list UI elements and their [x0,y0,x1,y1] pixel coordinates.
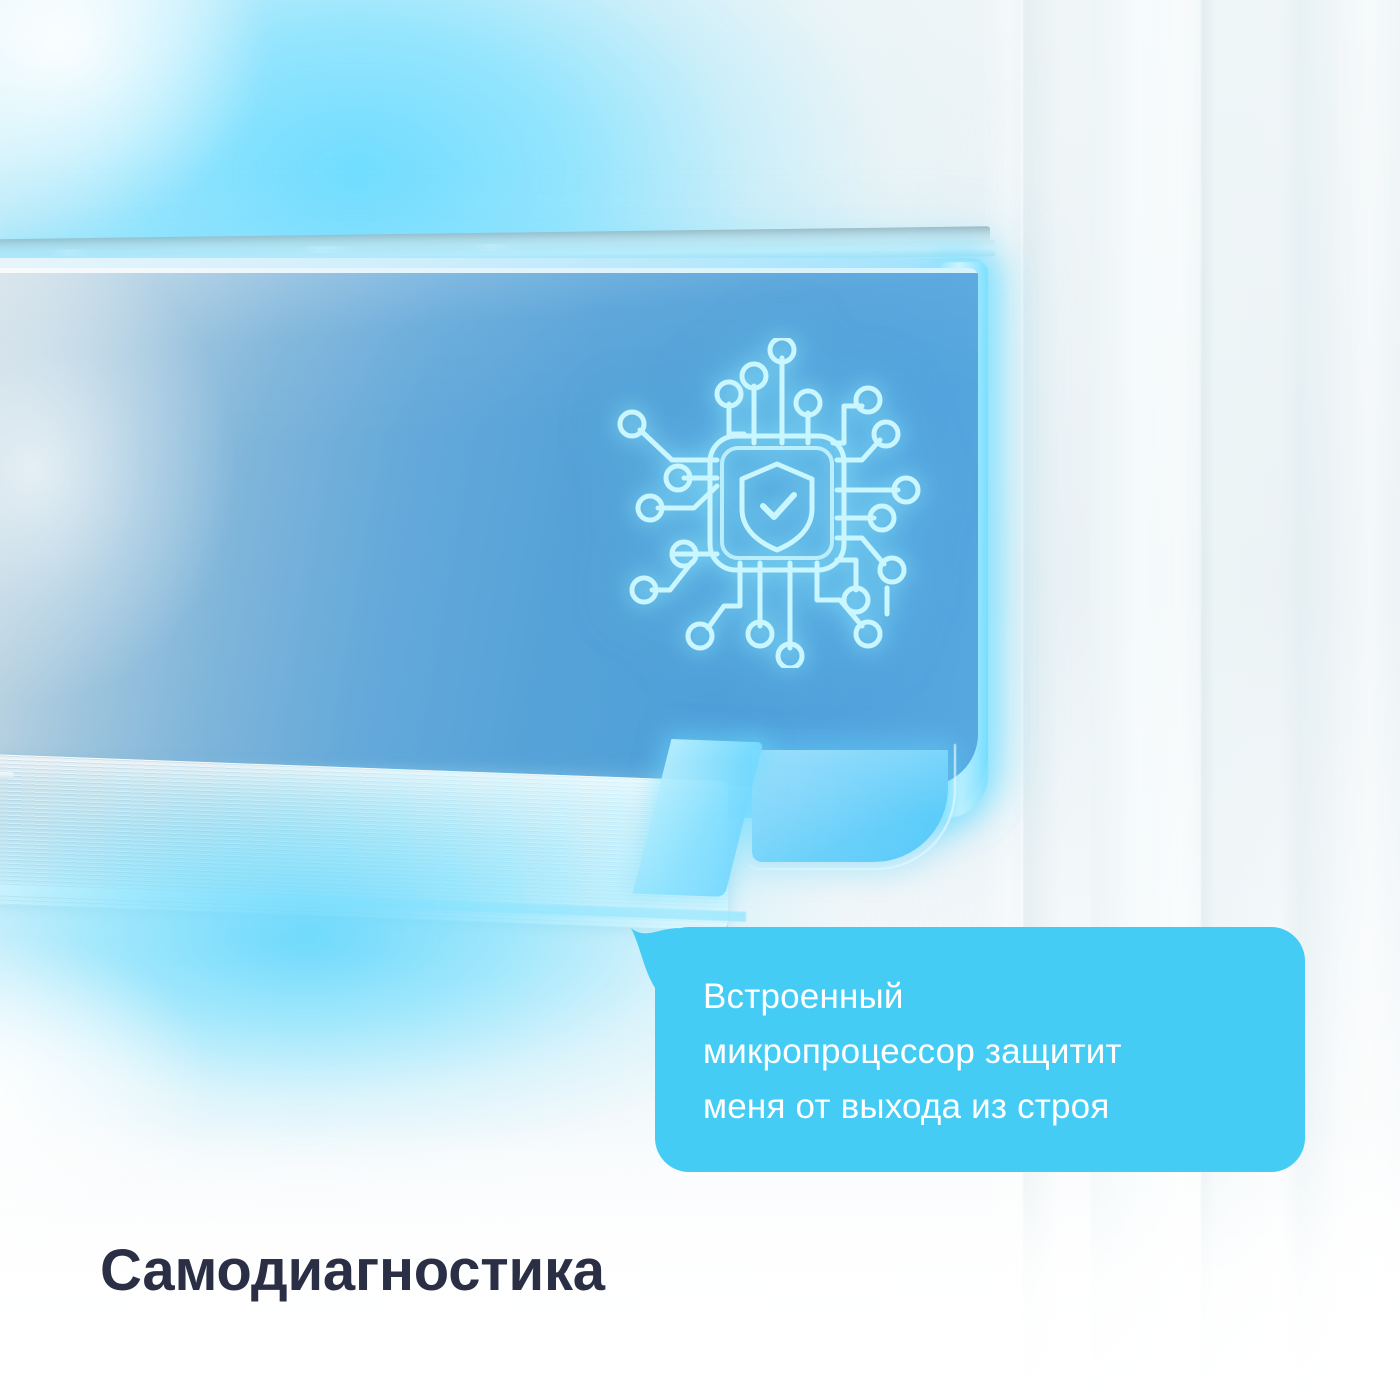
shield-icon [742,464,812,550]
microchip-shield-check-icon [612,338,942,668]
speech-bubble: Встроенный микропроцессор защитит меня о… [655,927,1305,1172]
feature-card: Встроенный микропроцессор защитит меня о… [0,0,1400,1400]
circuit-traces [640,358,898,648]
node-rings [620,338,918,668]
speech-bubble-text: Встроенный микропроцессор защитит меня о… [703,969,1263,1134]
page-title: Самодиагностика [100,1237,605,1304]
speech-bubble-tail [619,926,679,1000]
